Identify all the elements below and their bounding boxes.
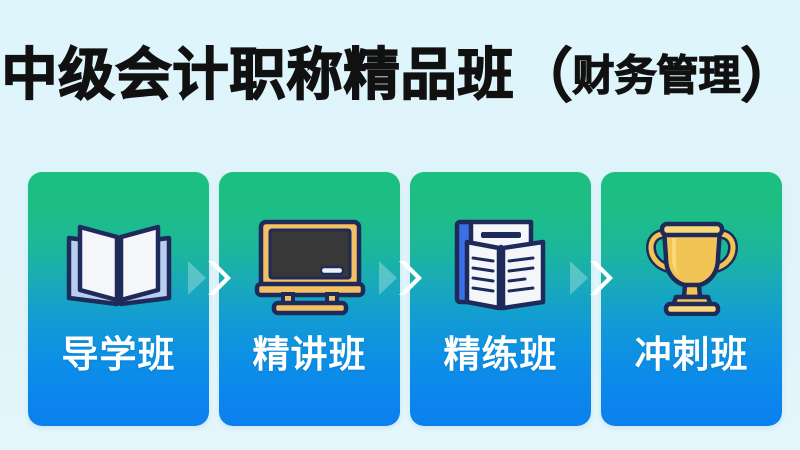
title-paren-close: ）	[741, 44, 799, 109]
course-stage-card-1[interactable]: 导学班	[28, 172, 209, 426]
open-book-icon	[57, 214, 181, 318]
poster-canvas: 中级会计职称精品班（财务管理）	[0, 0, 800, 450]
trophy-icon	[630, 214, 754, 318]
course-stage-label-2: 精讲班	[253, 336, 367, 373]
title-paren-open: （	[514, 44, 572, 109]
title-sub-text: 财务管理	[572, 51, 740, 100]
course-stage-card-2[interactable]: 精讲班	[219, 172, 400, 426]
page-title: 中级会计职称精品班（财务管理）	[0, 48, 800, 106]
course-stage-label-3: 精练班	[444, 336, 558, 373]
course-stage-card-3[interactable]: 精练班	[410, 172, 591, 426]
course-stage-card-list: 导学班	[28, 172, 772, 426]
course-stage-label-4: 冲刺班	[635, 336, 749, 373]
course-stage-card-4[interactable]: 冲刺班	[601, 172, 782, 426]
title-main-text: 中级会计职称精品班	[1, 43, 514, 108]
blackboard-icon	[248, 214, 372, 318]
course-stage-label-1: 导学班	[62, 336, 176, 373]
workbook-icon	[439, 214, 563, 318]
